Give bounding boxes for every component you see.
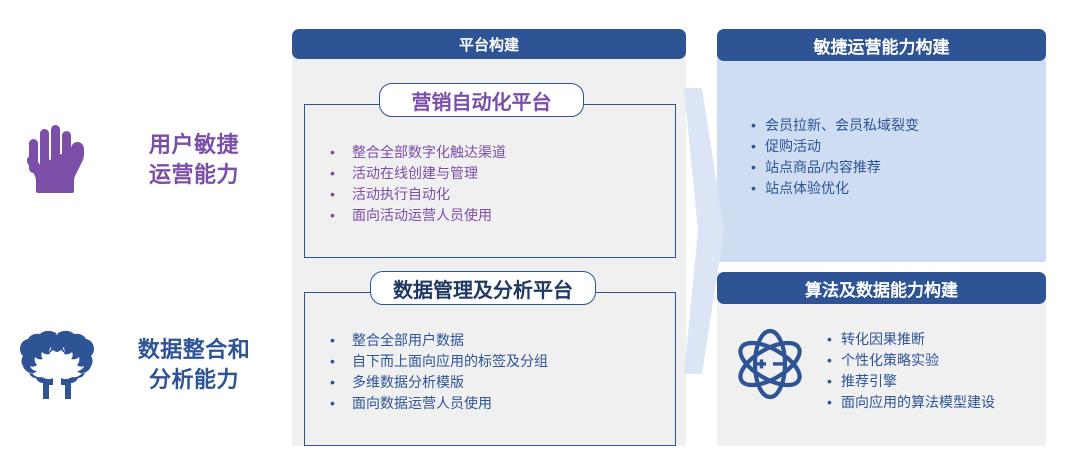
list-item: •多维数据分析模版 xyxy=(330,372,548,393)
list-item-label: 转化因果推断 xyxy=(841,329,925,350)
list-item-label: 活动在线创建与管理 xyxy=(352,163,478,184)
center-box-data-platform-bullets: •整合全部用户数据•自下而上面向应用的标签及分组•多维数据分析模版•面向数据运营… xyxy=(330,330,548,414)
bullet-dot-icon: • xyxy=(751,136,765,157)
list-item-label: 站点商品/内容推荐 xyxy=(765,157,881,178)
list-item: •面向活动运营人员使用 xyxy=(330,205,506,226)
center-panel-header: 平台构建 xyxy=(292,29,686,59)
bullet-dot-icon: • xyxy=(827,350,841,371)
capability-label-data-integration: 数据整合和 分析能力 xyxy=(112,335,290,396)
list-item: •站点体验优化 xyxy=(751,178,919,199)
list-item-label: 推荐引擎 xyxy=(841,371,897,392)
center-box-marketing-automation-title: 营销自动化平台 xyxy=(379,83,584,117)
list-item: •转化因果推断 xyxy=(827,329,995,350)
list-item-label: 自下而上面向应用的标签及分组 xyxy=(352,351,548,372)
list-item: •会员拉新、会员私域裂变 xyxy=(751,115,919,136)
center-box-data-platform-title: 数据管理及分析平台 xyxy=(370,271,596,305)
flow-arrow-icon xyxy=(684,88,724,374)
bullet-dot-icon: • xyxy=(330,205,352,226)
right-panel-agile-operations-header: 敏捷运营能力构建 xyxy=(717,29,1046,61)
list-item: •自下而上面向应用的标签及分组 xyxy=(330,351,548,372)
list-item-label: 多维数据分析模版 xyxy=(352,372,464,393)
bullet-dot-icon: • xyxy=(330,351,352,372)
bullet-dot-icon: • xyxy=(827,371,841,392)
list-item: •站点商品/内容推荐 xyxy=(751,157,919,178)
bullet-dot-icon: • xyxy=(330,142,352,163)
right-panel-algorithm-data-bullets: •转化因果推断•个性化策略实验•推荐引擎•面向应用的算法模型建设 xyxy=(827,329,995,413)
list-item-label: 站点体验优化 xyxy=(765,178,849,199)
right-panel-agile-operations-header-label: 敏捷运营能力构建 xyxy=(814,33,950,58)
right-panel-algorithm-data-header: 算法及数据能力构建 xyxy=(717,272,1046,304)
list-item: •个性化策略实验 xyxy=(827,350,995,371)
right-panel-agile-operations-bullets: •会员拉新、会员私域裂变•促购活动•站点商品/内容推荐•站点体验优化 xyxy=(751,115,919,199)
bullet-dot-icon: • xyxy=(827,392,841,413)
bullet-dot-icon: • xyxy=(330,393,352,414)
chip-label-marketing-automation: 营销自动化平台 xyxy=(412,86,552,115)
chip-label-data-platform: 数据管理及分析平台 xyxy=(393,274,573,303)
capability-label-user-agility: 用户敏捷 运营能力 xyxy=(112,130,290,191)
list-item: •推荐引擎 xyxy=(827,371,995,392)
bullet-dot-icon: • xyxy=(751,157,765,178)
list-item: •促购活动 xyxy=(751,136,919,157)
list-item-label: 面向数据运营人员使用 xyxy=(352,393,492,414)
list-item-label: 个性化策略实验 xyxy=(841,350,939,371)
atom-icon xyxy=(733,327,807,401)
bullet-dot-icon: • xyxy=(330,163,352,184)
bullet-dot-icon: • xyxy=(330,184,352,205)
hand-icon xyxy=(0,123,112,197)
list-item-label: 促购活动 xyxy=(765,136,821,157)
list-item-label: 面向应用的算法模型建设 xyxy=(841,392,995,413)
capability-row-data-integration: 数据整合和 分析能力 xyxy=(0,315,290,415)
list-item-label: 活动执行自动化 xyxy=(352,184,450,205)
right-panel-algorithm-data-header-label: 算法及数据能力构建 xyxy=(805,276,958,301)
list-item-label: 会员拉新、会员私域裂变 xyxy=(765,115,919,136)
list-item: •活动执行自动化 xyxy=(330,184,506,205)
bullet-dot-icon: • xyxy=(751,178,765,199)
bullet-dot-icon: • xyxy=(330,330,352,351)
center-panel-header-label: 平台构建 xyxy=(459,34,519,55)
bullet-dot-icon: • xyxy=(751,115,765,136)
list-item-label: 整合全部用户数据 xyxy=(352,330,464,351)
list-item-label: 整合全部数字化触达渠道 xyxy=(352,142,506,163)
list-item-label: 面向活动运营人员使用 xyxy=(352,205,492,226)
list-item: •活动在线创建与管理 xyxy=(330,163,506,184)
bullet-dot-icon: • xyxy=(827,329,841,350)
list-item: •面向数据运营人员使用 xyxy=(330,393,548,414)
list-item: •面向应用的算法模型建设 xyxy=(827,392,995,413)
capability-row-user-agility: 用户敏捷 运营能力 xyxy=(0,110,290,210)
list-item: •整合全部用户数据 xyxy=(330,330,548,351)
center-box-marketing-automation-bullets: •整合全部数字化触达渠道•活动在线创建与管理•活动执行自动化•面向活动运营人员使… xyxy=(330,142,506,226)
brain-icon xyxy=(0,329,112,401)
bullet-dot-icon: • xyxy=(330,372,352,393)
left-capability-column: 用户敏捷 运营能力 数据整合和 分析能力 xyxy=(0,0,290,462)
list-item: •整合全部数字化触达渠道 xyxy=(330,142,506,163)
